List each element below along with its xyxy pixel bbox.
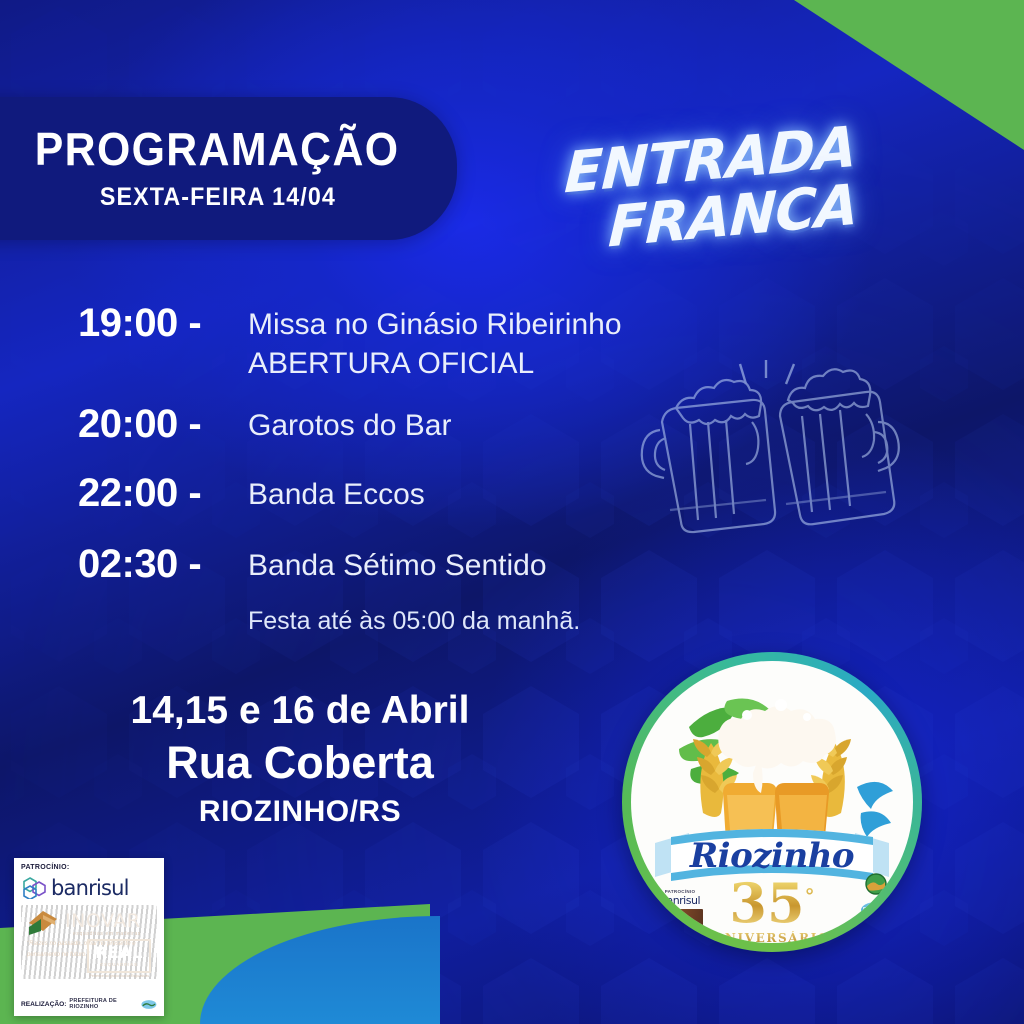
schedule-description-line2: ABERTURA OFICIAL	[248, 344, 622, 383]
inovar-house-icon	[25, 909, 63, 937]
badge-city-wordmark: RIOZINHO	[861, 902, 891, 918]
anniversary-badge: Riozinho 35° ANIVERSÁRIO PATROCÍNIO banr…	[622, 652, 922, 952]
schedule-row: 20:00 - Garotos do Bar	[78, 401, 698, 448]
event-details: 14,15 e 16 de Abril Rua Coberta RIOZINHO…	[0, 688, 600, 829]
inovar-real-banner: INOVAR esquadrias em madeiras "Raízes no…	[21, 905, 157, 979]
schedule-list: 19:00 - Missa no Ginásio Ribeirinho ABER…	[78, 300, 698, 636]
schedule-time: 19:00 -	[78, 300, 248, 347]
free-entry-badge: ENTRADA FRANCA	[556, 128, 886, 278]
sponsor-label: PATROCÍNIO:	[21, 864, 157, 871]
header-subtitle: SEXTA-FEIRA 14/04	[99, 183, 335, 212]
schedule-description: Missa no Ginásio Ribeirinho ABERTURA OFI…	[248, 300, 622, 383]
realizacao-row: REALIZAÇÃO: PREFEITURA DE RIOZINHO	[21, 994, 157, 1010]
badge-town-name: Riozinho	[690, 836, 854, 876]
badge-city-logo: RIOZINHO	[861, 873, 891, 918]
badge-sponsor-block: PATROCÍNIO banrisul	[657, 889, 703, 929]
schedule-description: Banda Eccos	[248, 470, 425, 514]
schedule-row: 19:00 - Missa no Ginásio Ribeirinho ABER…	[78, 300, 698, 383]
real-logo: REAL ESQUADRIAS	[87, 939, 151, 973]
event-venue: Rua Coberta	[0, 735, 600, 791]
badge-anniversary-number: 35°	[714, 876, 830, 930]
realizacao-value: PREFEITURA DE RIOZINHO	[69, 998, 138, 1010]
schedule-row: 02:30 - Banda Sétimo Sentido	[78, 541, 698, 588]
header-panel: PROGRAMAÇÃO SEXTA-FEIRA 14/04	[0, 97, 457, 240]
badge-sponsor-bank: banrisul	[657, 894, 703, 907]
sponsor-card: PATROCÍNIO: banrisul INOVAR esquadrias e…	[14, 858, 164, 1016]
event-city: RIOZINHO/RS	[0, 795, 600, 829]
page-title: PROGRAMAÇÃO	[35, 126, 400, 172]
schedule-time: 20:00 -	[78, 401, 248, 448]
badge-anniversary: 35° ANIVERSÁRIO	[714, 876, 830, 943]
schedule-description-line1: Missa no Ginásio Ribeirinho	[248, 308, 622, 341]
banrisul-hexagon-icon	[21, 877, 47, 899]
inovar-wordmark: INOVAR	[65, 910, 140, 932]
schedule-time: 02:30 -	[78, 541, 248, 588]
schedule-description: Garotos do Bar	[248, 401, 451, 445]
prefeitura-logo-icon	[141, 999, 157, 1010]
banrisul-wordmark: banrisul	[51, 876, 129, 900]
schedule-time: 22:00 -	[78, 470, 248, 517]
real-wordmark: REAL	[95, 945, 143, 961]
banrisul-logo: banrisul	[21, 876, 157, 900]
real-group-note: Pertence ao grupo Inovar Esquadrias	[89, 974, 149, 978]
badge-crest-icon	[863, 873, 889, 897]
event-poster: PROGRAMAÇÃO SEXTA-FEIRA 14/04 ENTRADA FR…	[0, 0, 1024, 1024]
real-tagline: ESQUADRIAS	[100, 962, 138, 967]
schedule-footnote: Festa até às 05:00 da manhã.	[248, 607, 698, 636]
schedule-description: Banda Sétimo Sentido	[248, 541, 547, 585]
badge-anniversary-label: ANIVERSÁRIO	[714, 931, 830, 943]
realizacao-label: REALIZAÇÃO:	[21, 1001, 66, 1008]
inovar-tagline: esquadrias em madeiras	[73, 931, 141, 937]
event-dates: 14,15 e 16 de Abril	[0, 688, 600, 735]
badge-inovar-strip	[657, 909, 703, 929]
schedule-row: 22:00 - Banda Eccos	[78, 470, 698, 517]
